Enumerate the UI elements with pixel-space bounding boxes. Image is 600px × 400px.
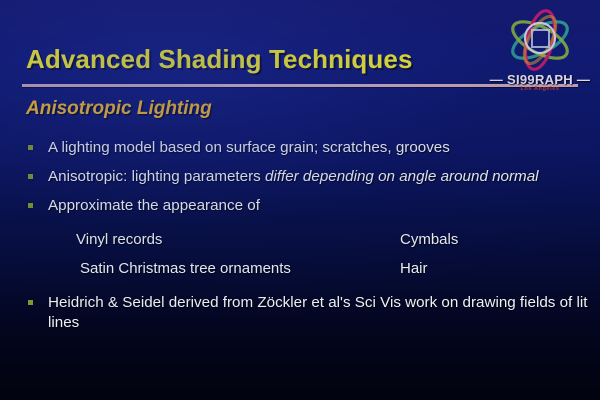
bullet-text: A lighting model based on surface grain;… xyxy=(48,139,450,156)
bullet-text-emphasis: differ depending on angle around normal xyxy=(265,168,539,185)
sub-item-right: Cymbals xyxy=(400,230,458,250)
slide-body: A lighting model based on surface grain;… xyxy=(0,138,600,342)
bullet-text: Approximate the appearance of xyxy=(48,197,260,214)
page-title: Advanced Shading Techniques xyxy=(26,44,413,75)
siggraph-wordmark: — SI99RAPH — xyxy=(488,72,592,87)
bullet-marker-icon xyxy=(28,145,33,150)
siggraph-location: Los Angeles xyxy=(488,86,592,92)
bullet-text: Anisotropic: lighting parameters differ … xyxy=(48,168,539,185)
sub-item-left: Vinyl records xyxy=(76,230,162,250)
bullet-text-pre: Anisotropic: lighting parameters xyxy=(48,168,265,185)
bullet-marker-icon xyxy=(28,300,33,305)
sub-item-row: Vinyl records Cymbals xyxy=(0,230,600,250)
siggraph-rings-icon xyxy=(496,6,584,74)
bullet-marker-icon xyxy=(28,203,33,208)
bullet-text-pre: Heidrich & Seidel derived from Zöckler e… xyxy=(48,294,587,331)
bullet-text-pre: Approximate the appearance of xyxy=(48,197,260,214)
bullet-text: Heidrich & Seidel derived from Zöckler e… xyxy=(48,294,587,331)
sub-item-right: Hair xyxy=(400,259,428,279)
slide-subtitle: Anisotropic Lighting xyxy=(26,98,212,120)
bullet-text-pre: A lighting model based on surface grain;… xyxy=(48,139,450,156)
bullet-item: Anisotropic: lighting parameters differ … xyxy=(0,167,600,187)
bullet-marker-icon xyxy=(28,174,33,179)
presentation-slide: Advanced Shading Techniques Anisotropic … xyxy=(0,0,600,400)
sub-item-left: Satin Christmas tree ornaments xyxy=(80,259,291,279)
bullet-item: A lighting model based on surface grain;… xyxy=(0,138,600,158)
bullet-item: Heidrich & Seidel derived from Zöckler e… xyxy=(0,293,600,333)
sub-item-row: Satin Christmas tree ornaments Hair xyxy=(0,259,600,279)
bullet-item: Approximate the appearance of xyxy=(0,196,600,216)
siggraph-logo: — SI99RAPH — Los Angeles xyxy=(488,6,592,100)
